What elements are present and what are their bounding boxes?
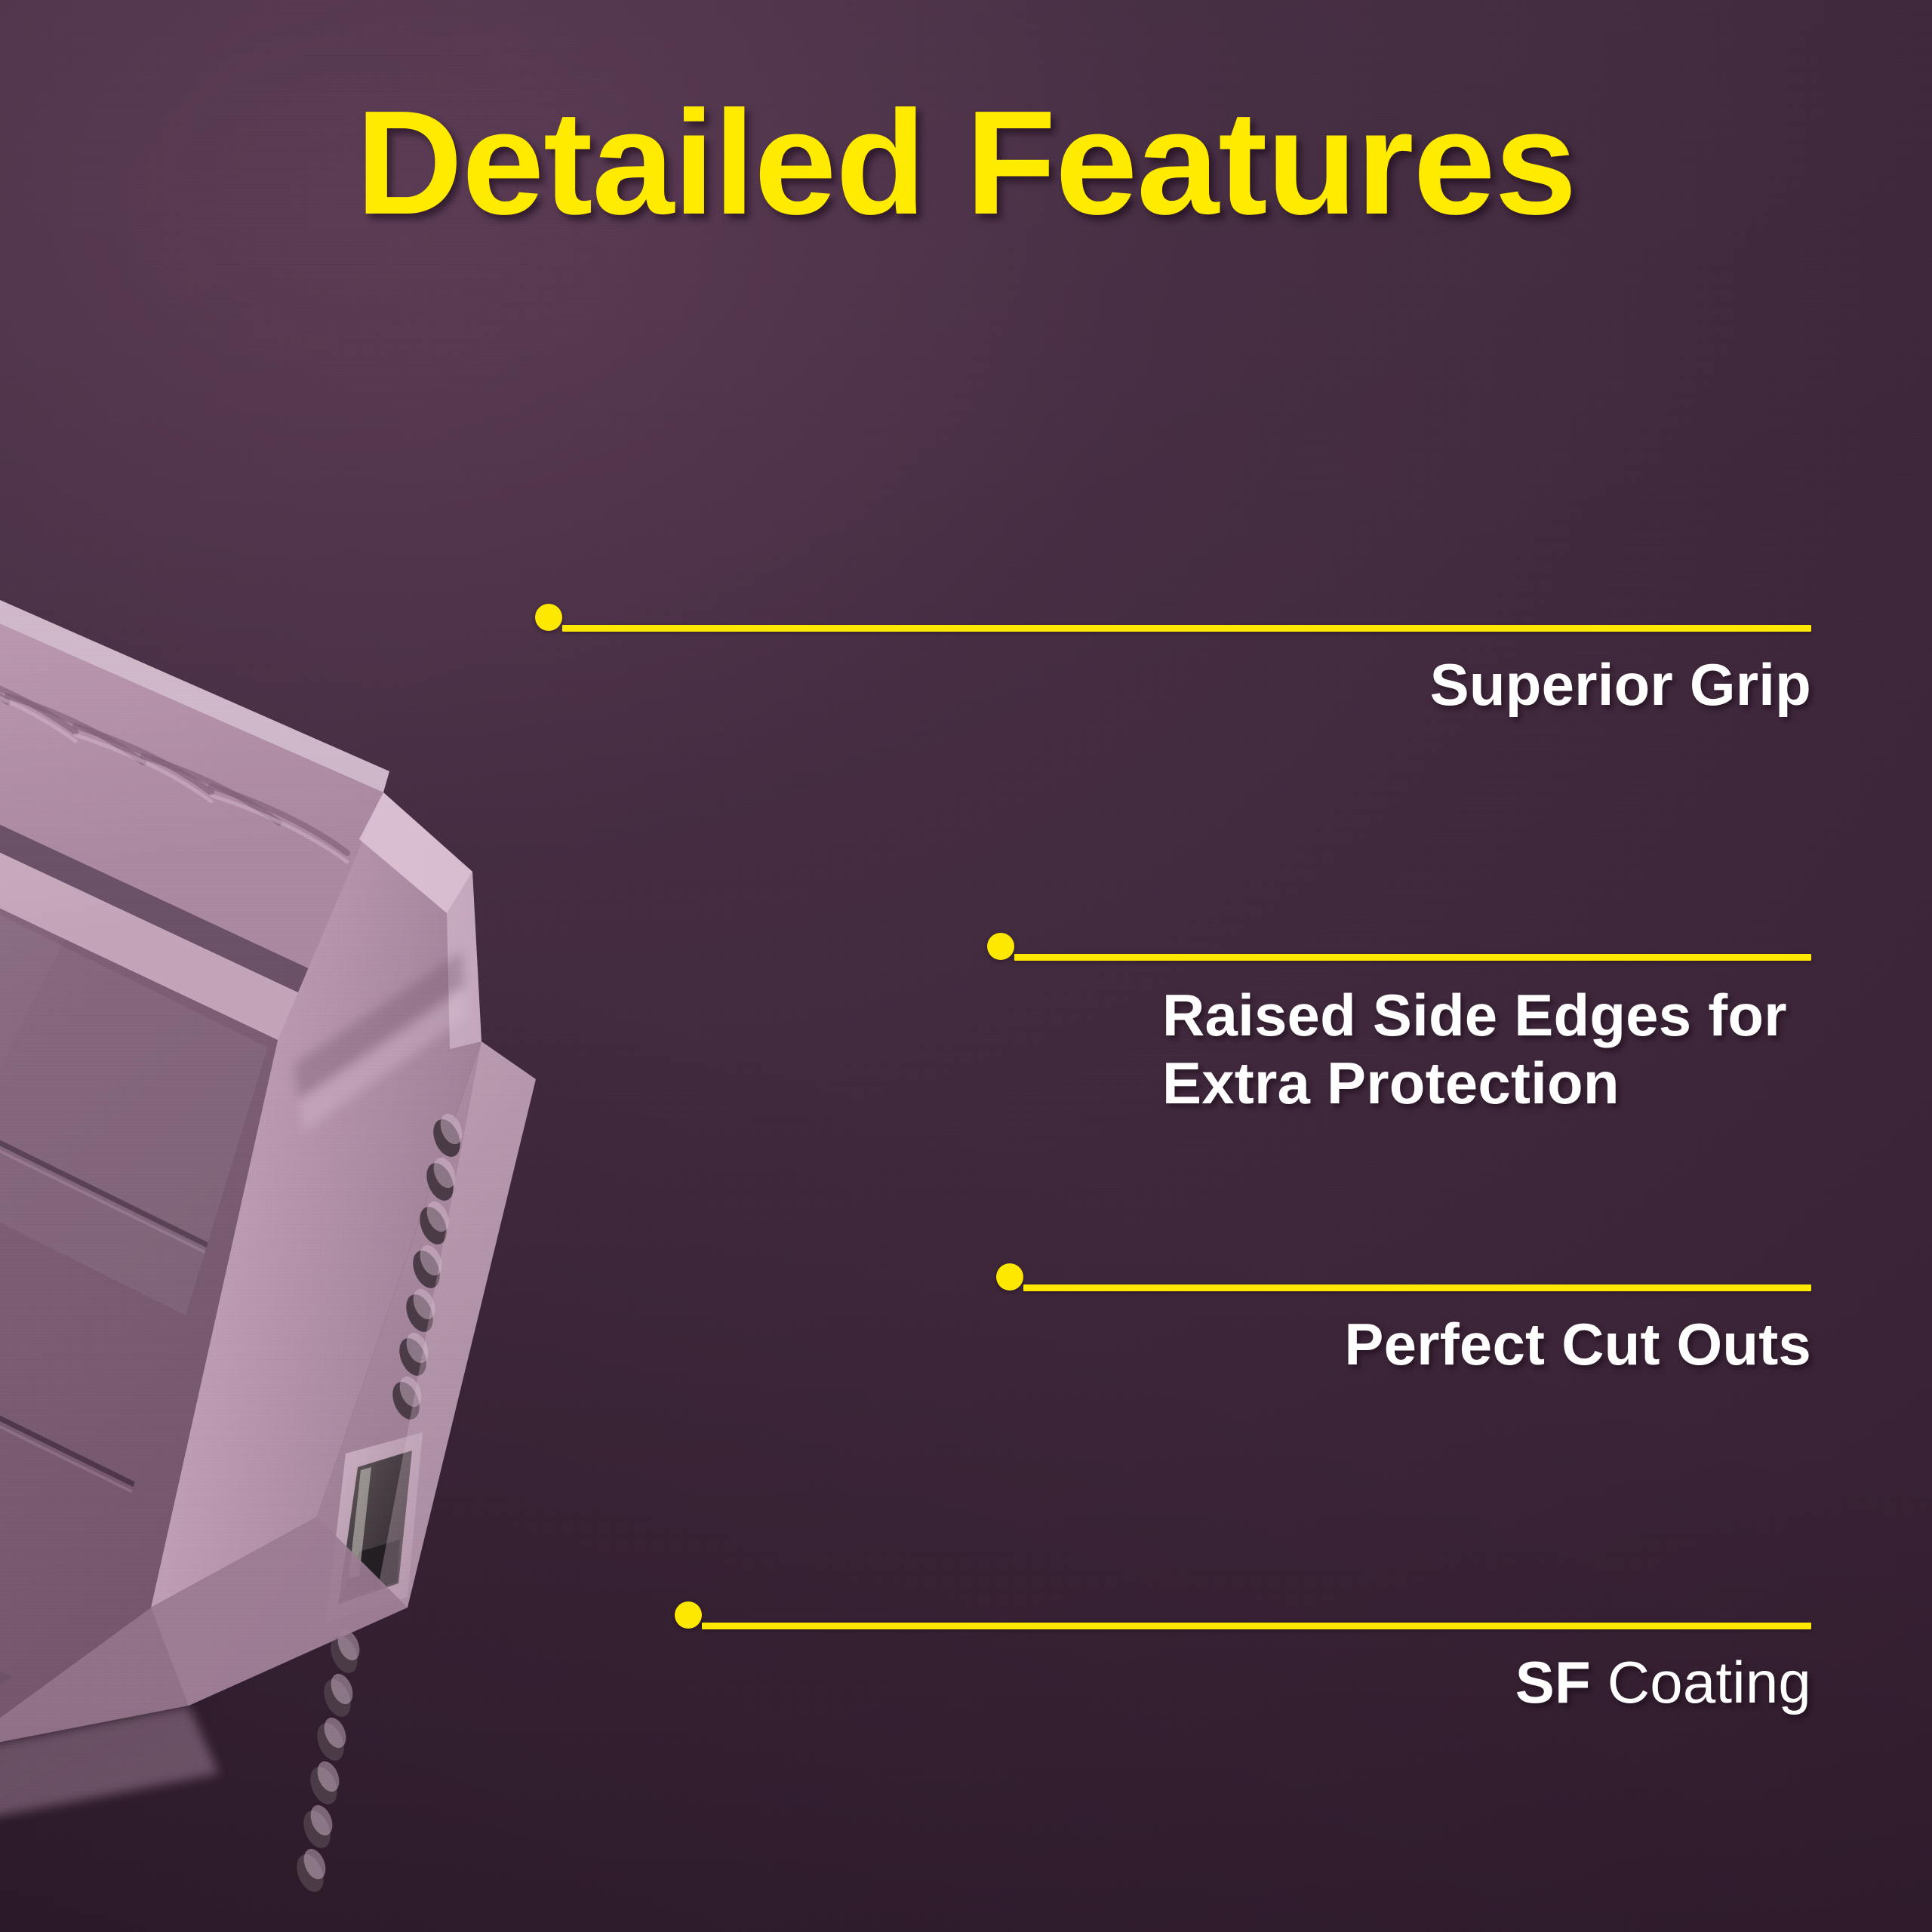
- callout-label-sf-coating: SF Coating: [1057, 1648, 1811, 1716]
- infographic-canvas: Detailed Features Superior Grip Raised S…: [0, 0, 1932, 1932]
- leader-dot-raised-side-edges: [987, 933, 1014, 960]
- leader-dot-superior-grip: [535, 604, 562, 631]
- callout-label-line-1: Raised Side Edges for: [1162, 982, 1787, 1048]
- page-title: Detailed Features: [0, 89, 1932, 237]
- background-sheen: [0, 0, 1932, 1932]
- leader-line-superior-grip: [562, 625, 1811, 632]
- callout-label-perfect-cut-outs: Perfect Cut Outs: [1057, 1310, 1811, 1378]
- leader-line-sf-coating: [702, 1623, 1811, 1629]
- callout-label-line-2: Extra Protection: [1162, 1050, 1620, 1116]
- leader-line-perfect-cut-outs: [1023, 1284, 1811, 1291]
- callout-label-superior-grip: Superior Grip: [1132, 651, 1811, 718]
- leader-line-raised-side-edges: [1014, 954, 1811, 961]
- callout-label-raised-side-edges: Raised Side Edges forExtra Protection: [1162, 981, 1887, 1118]
- callout-label-bold-prefix: SF: [1515, 1649, 1591, 1715]
- leader-dot-perfect-cut-outs: [996, 1263, 1023, 1291]
- callout-label-regular-suffix: Coating: [1591, 1649, 1811, 1715]
- leader-dot-sf-coating: [675, 1601, 702, 1629]
